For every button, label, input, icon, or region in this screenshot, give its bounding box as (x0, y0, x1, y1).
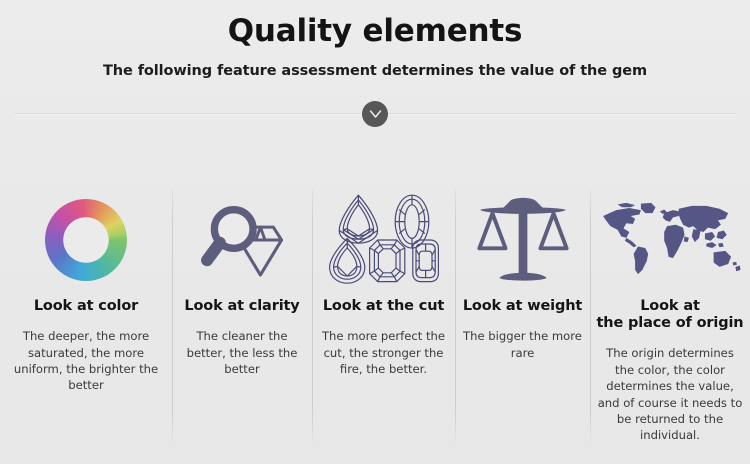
quality-card-body: The origin determines the color, the col… (596, 345, 744, 444)
gem-cuts-icon (328, 186, 440, 294)
quality-card-body: The deeper, the more saturated, the more… (11, 328, 161, 394)
chevron-down-icon[interactable] (362, 101, 388, 127)
world-map-icon (597, 186, 743, 294)
quality-elements-list: Look at color The deeper, the more satur… (0, 186, 750, 456)
quality-card-body: The more perfect the cut, the stronger t… (318, 328, 449, 377)
quality-card-title: Look at color (34, 298, 138, 315)
color-wheel-icon (45, 186, 127, 294)
magnifier-diamond-icon (196, 186, 288, 294)
quality-card-title: Look at weight (463, 298, 582, 315)
page-subtitle: The following feature assessment determi… (0, 63, 750, 79)
quality-card-origin[interactable]: Look at the place of origin The origin d… (590, 186, 750, 456)
quality-card-color[interactable]: Look at color The deeper, the more satur… (0, 186, 172, 456)
quality-card-title: Look at the place of origin (597, 298, 744, 332)
quality-card-cut[interactable]: Look at the cut The more perfect the cut… (312, 186, 455, 456)
section-divider (0, 101, 750, 131)
page-header: Quality elements The following feature a… (0, 0, 750, 79)
page-title: Quality elements (0, 14, 750, 50)
quality-card-body: The bigger the more rare (461, 328, 584, 361)
quality-card-weight[interactable]: Look at weight The bigger the more rare (455, 186, 590, 456)
quality-card-body: The cleaner the better, the less the bet… (178, 328, 306, 377)
quality-card-title: Look at the cut (323, 298, 444, 315)
quality-card-title: Look at clarity (184, 298, 299, 315)
balance-scale-icon (475, 186, 571, 294)
quality-card-clarity[interactable]: Look at clarity The cleaner the better, … (172, 186, 312, 456)
